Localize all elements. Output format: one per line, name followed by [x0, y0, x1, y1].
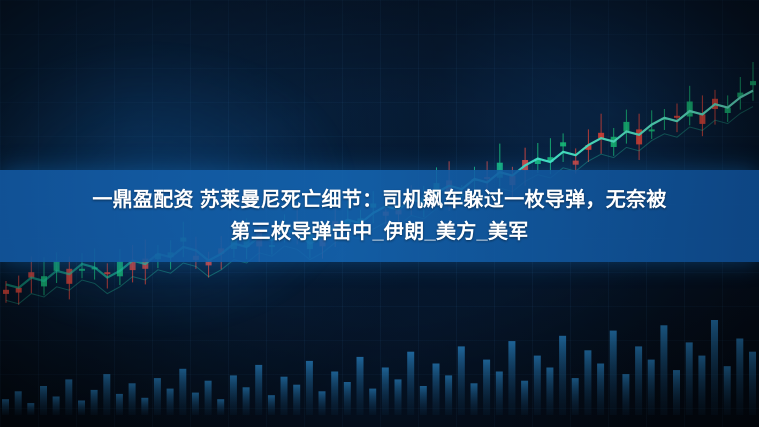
headline-line-2: 第三枚导弹击中_伊朗_美方_美军	[230, 216, 528, 248]
screenshot-root: 一鼎盈配资 苏莱曼尼死亡细节：司机飙车躲过一枚导弹，无奈被 第三枚导弹击中_伊朗…	[0, 0, 759, 427]
headline-banner: 一鼎盈配资 苏莱曼尼死亡细节：司机飙车躲过一枚导弹，无奈被 第三枚导弹击中_伊朗…	[0, 170, 759, 262]
headline-line-1: 一鼎盈配资 苏莱曼尼死亡细节：司机飙车躲过一枚导弹，无奈被	[92, 184, 666, 216]
